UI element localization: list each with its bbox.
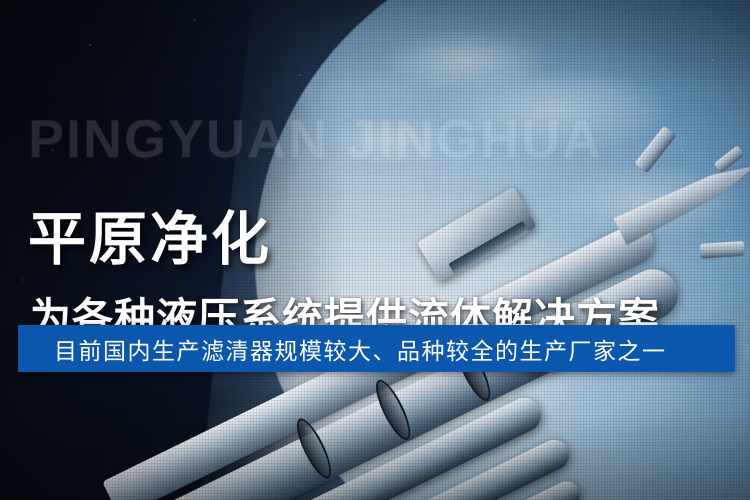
hero-banner: PINGYUAN JINGHUA 平原净化 为各种液压系统提供流体解决方案 目前… xyxy=(0,0,750,500)
tagline-text: 目前国内生产滤清器规模较大、品种较全的生产厂家之一 xyxy=(54,332,667,366)
page-title: 平原净化 xyxy=(28,209,272,270)
rocket-fin-a xyxy=(635,125,677,173)
rocket-fin-c xyxy=(714,145,745,173)
brand-watermark-pinyin: PINGYUAN JINGHUA xyxy=(28,112,603,166)
tagline-bar: 目前国内生产滤清器规模较大、品种较全的生产厂家之一 xyxy=(18,325,735,372)
rocket-fin-b xyxy=(700,241,745,259)
